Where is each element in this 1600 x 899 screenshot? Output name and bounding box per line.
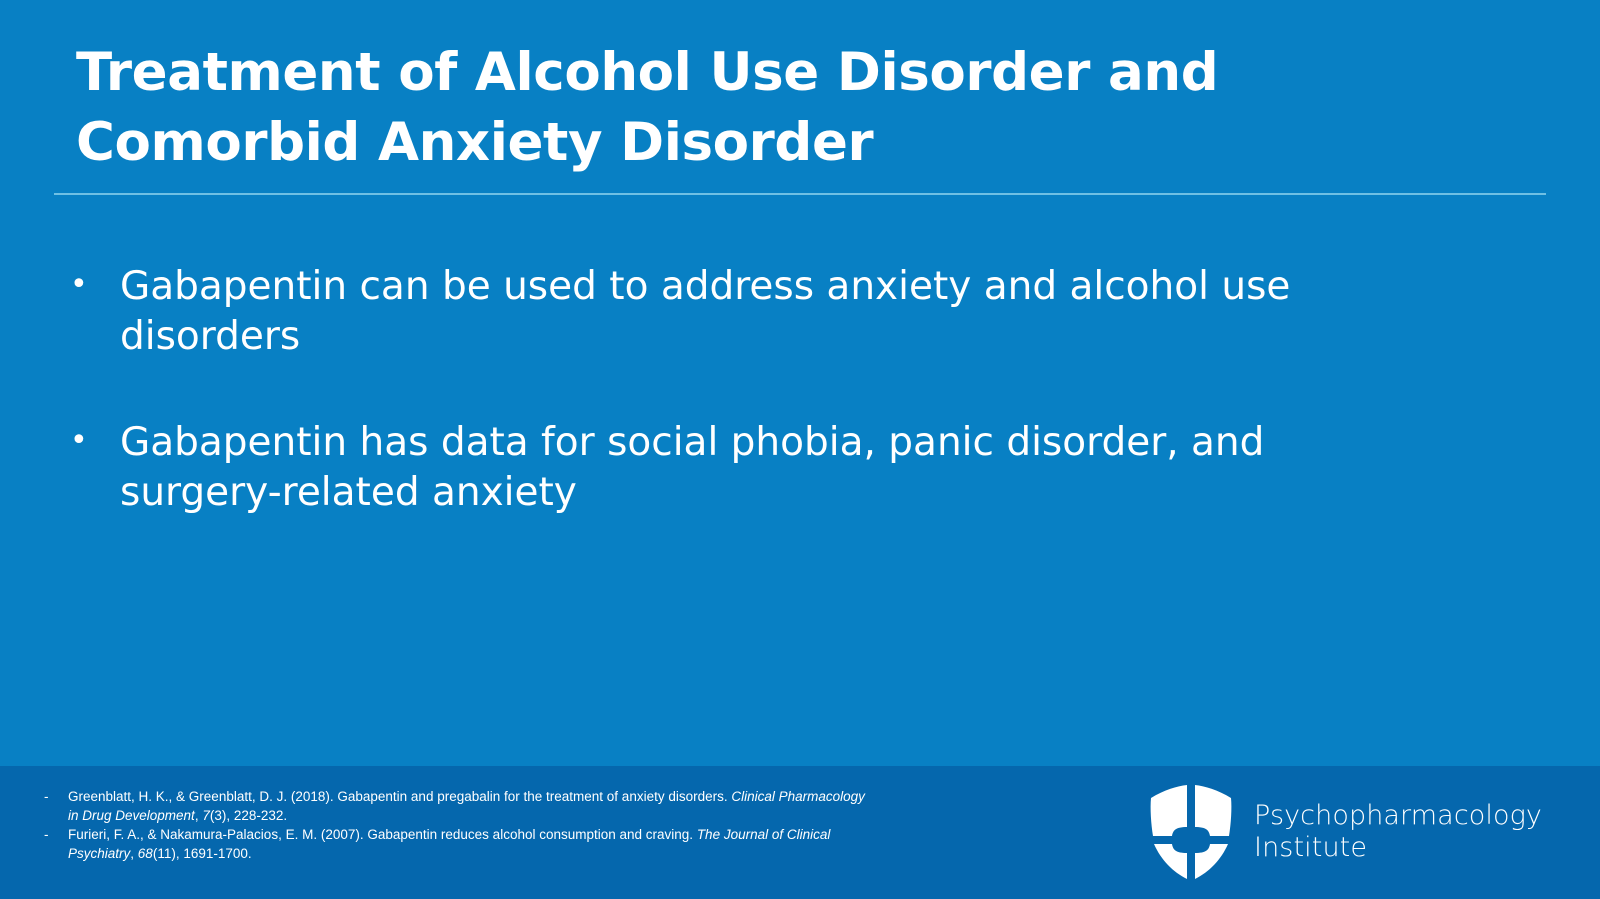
- list-item: - Greenblatt, H. K., & Greenblatt, D. J.…: [44, 788, 874, 825]
- bullet-point-icon: •: [70, 418, 120, 465]
- reference-text: Greenblatt, H. K., & Greenblatt, D. J. (…: [68, 788, 874, 825]
- reference-volume-2: 68: [138, 846, 153, 861]
- footer-band: - Greenblatt, H. K., & Greenblatt, D. J.…: [0, 766, 1600, 899]
- title-block: Treatment of Alcohol Use Disorder and Co…: [76, 38, 1546, 179]
- list-item: - Furieri, F. A., & Nakamura-Palacios, E…: [44, 826, 874, 863]
- list-item: • Gabapentin can be used to address anxi…: [70, 262, 1370, 362]
- reference-dash-icon: -: [44, 826, 68, 845]
- brand-logo: Psychopharmacology Institute: [1147, 784, 1542, 880]
- page-title: Treatment of Alcohol Use Disorder and Co…: [76, 38, 1546, 179]
- reference-text: Furieri, F. A., & Nakamura-Palacios, E. …: [68, 826, 874, 863]
- bullet-text: Gabapentin can be used to address anxiet…: [120, 262, 1370, 362]
- bullet-point-icon: •: [70, 262, 120, 309]
- reference-volume-1: 7: [202, 808, 210, 823]
- reference-list: - Greenblatt, H. K., & Greenblatt, D. J.…: [44, 788, 874, 865]
- reference-plain-3: (11), 1691-1700.: [153, 846, 252, 861]
- reference-dash-icon: -: [44, 788, 68, 807]
- reference-plain-2: ,: [130, 846, 138, 861]
- brand-name: Psychopharmacology Institute: [1254, 800, 1542, 864]
- title-divider: [54, 193, 1546, 195]
- shield-cross-icon: [1147, 784, 1235, 880]
- reference-plain-3: (3), 228-232.: [210, 808, 287, 823]
- bullet-list: • Gabapentin can be used to address anxi…: [70, 262, 1370, 574]
- bullet-text: Gabapentin has data for social phobia, p…: [120, 418, 1370, 518]
- reference-plain-1: Furieri, F. A., & Nakamura-Palacios, E. …: [68, 827, 697, 842]
- reference-plain-1: Greenblatt, H. K., & Greenblatt, D. J. (…: [68, 789, 731, 804]
- list-item: • Gabapentin has data for social phobia,…: [70, 418, 1370, 518]
- presentation-slide: Treatment of Alcohol Use Disorder and Co…: [0, 0, 1600, 899]
